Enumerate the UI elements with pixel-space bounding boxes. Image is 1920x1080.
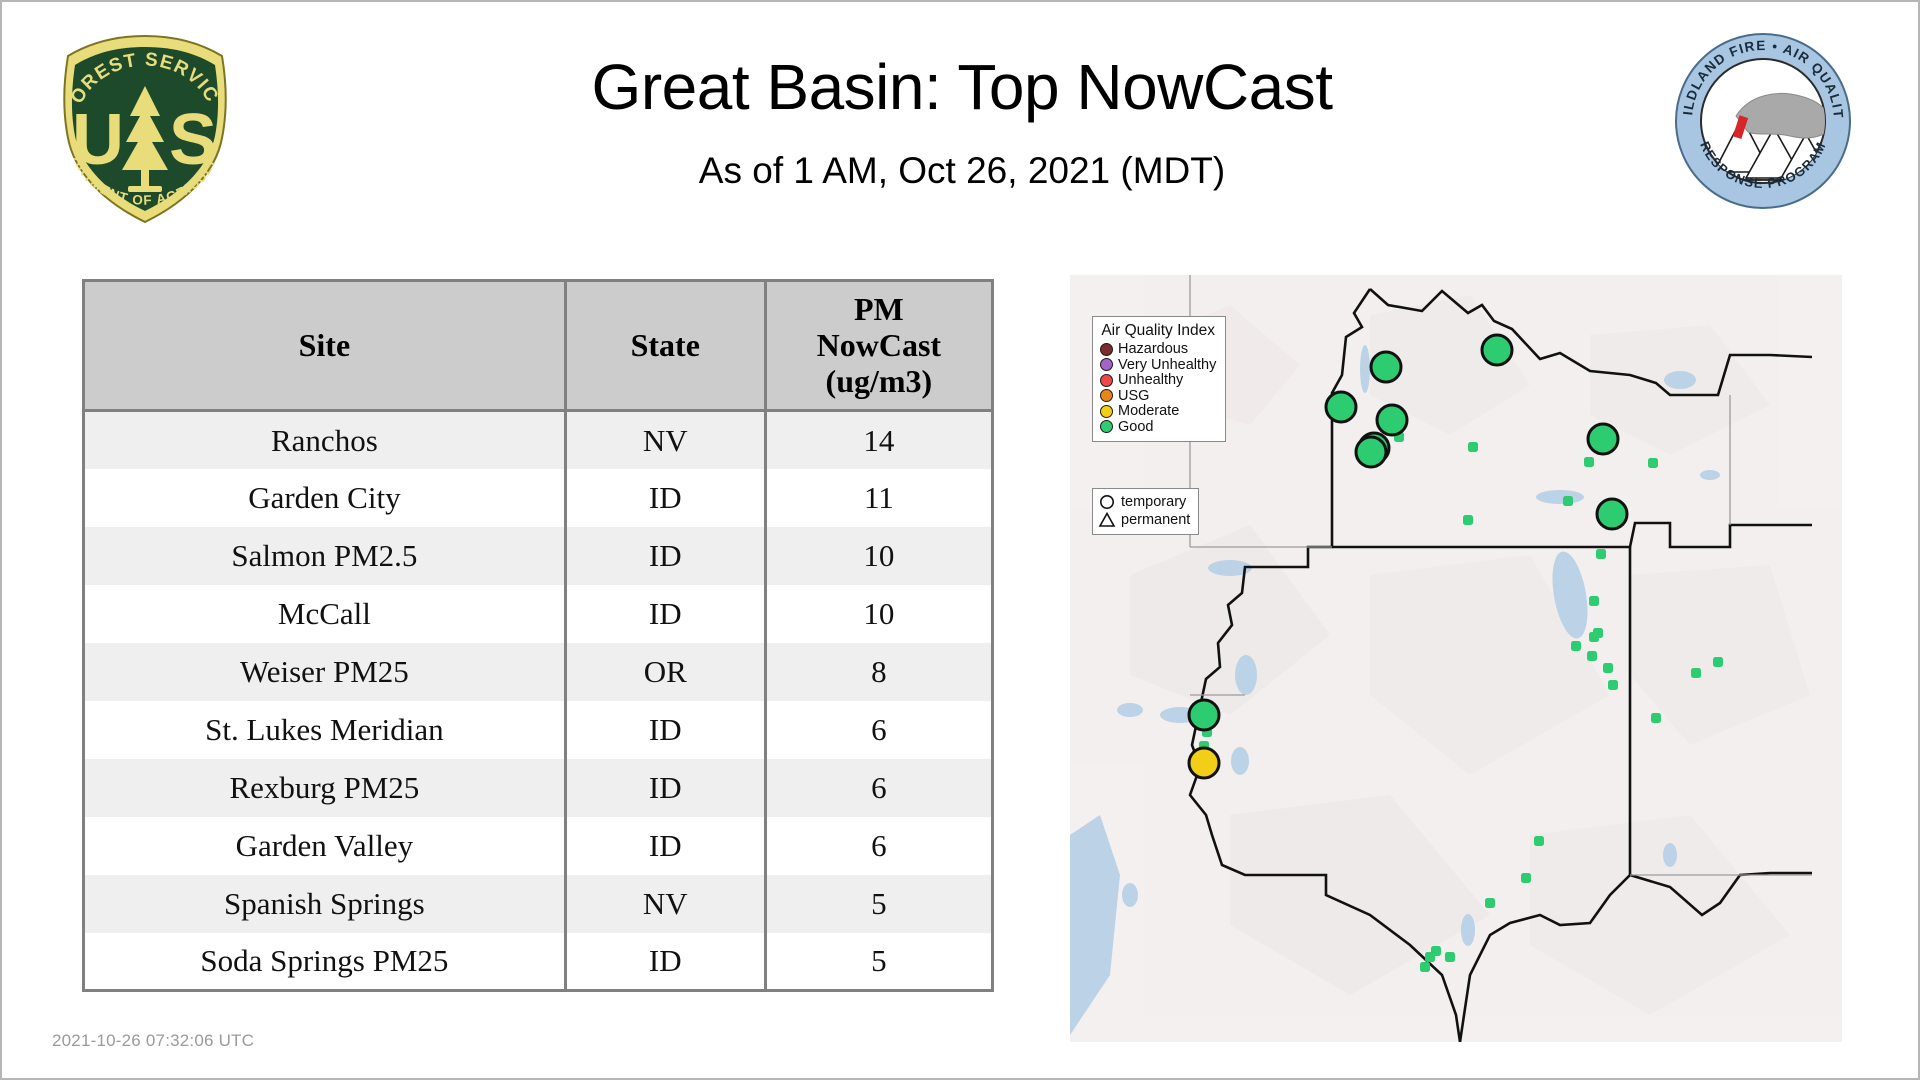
table-row: Weiser PM25OR8	[84, 643, 993, 701]
site-cell: Garden City	[84, 469, 566, 527]
value-cell: 6	[765, 701, 992, 759]
small-monitor-marker	[1589, 596, 1599, 606]
nowcast-table: Site State PM NowCast (ug/m3) RanchosNV1…	[82, 279, 994, 992]
aqi-legend-row: Unhealthy	[1100, 373, 1216, 388]
aqi-swatch-icon	[1100, 343, 1113, 356]
small-monitor-marker	[1713, 657, 1723, 667]
usfs-shield-logo: FOREST SERVICE U S DEPARTMENT OF AGRICUL…	[50, 30, 240, 230]
state-cell: NV	[565, 875, 765, 933]
ranked-monitor-marker[interactable]	[1482, 335, 1512, 365]
value-cell: 8	[765, 643, 992, 701]
small-monitor-marker	[1691, 668, 1701, 678]
table-row: McCallID10	[84, 585, 993, 643]
small-monitor-marker	[1468, 442, 1478, 452]
shape-legend-row-permanent: permanent	[1098, 511, 1190, 529]
shape-legend: temporary permanent	[1092, 488, 1199, 535]
aqi-legend-row: Moderate	[1100, 404, 1216, 419]
value-cell: 10	[765, 585, 992, 643]
table-row: Salmon PM2.5ID10	[84, 527, 993, 585]
small-monitor-marker	[1420, 962, 1430, 972]
ranked-monitor-marker[interactable]	[1371, 352, 1401, 382]
nowcast-table-container: Site State PM NowCast (ug/m3) RanchosNV1…	[82, 279, 994, 992]
site-cell: Weiser PM25	[84, 643, 566, 701]
aqi-legend-label: Good	[1118, 420, 1153, 435]
state-cell: ID	[565, 759, 765, 817]
table-row: Spanish SpringsNV5	[84, 875, 993, 933]
small-monitor-marker	[1584, 457, 1594, 467]
aqi-legend-title: Air Quality Index	[1100, 322, 1216, 340]
state-cell: NV	[565, 411, 765, 469]
table-row: Rexburg PM25ID6	[84, 759, 993, 817]
small-monitor-marker	[1563, 496, 1573, 506]
value-cell: 11	[765, 469, 992, 527]
column-header-pm-line3: (ug/m3)	[826, 363, 933, 399]
site-cell: McCall	[84, 585, 566, 643]
small-monitor-marker	[1596, 549, 1606, 559]
permanent-triangle-icon	[1098, 511, 1116, 529]
aqi-legend-label: Very Unhealthy	[1118, 358, 1216, 373]
temporary-circle-icon	[1098, 493, 1116, 511]
small-monitor-marker	[1593, 628, 1603, 638]
value-cell: 10	[765, 527, 992, 585]
state-cell: ID	[565, 585, 765, 643]
small-monitor-marker	[1648, 458, 1658, 468]
aqi-legend-row: Hazardous	[1100, 342, 1216, 357]
table-row: RanchosNV14	[84, 411, 993, 469]
page-title: Great Basin: Top NowCast	[262, 50, 1662, 124]
site-cell: Soda Springs PM25	[84, 933, 566, 991]
ranked-monitor-marker[interactable]	[1326, 392, 1356, 422]
column-header-pm-nowcast: PM NowCast (ug/m3)	[765, 281, 992, 411]
ranked-monitor-marker[interactable]	[1189, 748, 1219, 778]
site-cell: Garden Valley	[84, 817, 566, 875]
table-row: St. Lukes MeridianID6	[84, 701, 993, 759]
small-monitor-marker	[1485, 898, 1495, 908]
site-cell: Spanish Springs	[84, 875, 566, 933]
aqi-swatch-icon	[1100, 358, 1113, 371]
column-header-pm-line2: NowCast	[817, 327, 941, 363]
table-row: Garden ValleyID6	[84, 817, 993, 875]
column-header-state-label: State	[631, 327, 700, 363]
aqi-swatch-icon	[1100, 405, 1113, 418]
value-cell: 6	[765, 759, 992, 817]
ranked-monitor-marker[interactable]	[1189, 700, 1219, 730]
state-cell: ID	[565, 527, 765, 585]
aqi-legend-row: USG	[1100, 389, 1216, 404]
page-subtitle: As of 1 AM, Oct 26, 2021 (MDT)	[262, 150, 1662, 192]
wfaq-program-logo: WILDLAND FIRE • AIR QUALITY RESPONSE PRO…	[1674, 32, 1852, 210]
small-monitor-marker	[1571, 641, 1581, 651]
value-cell: 5	[765, 875, 992, 933]
small-monitor-marker	[1651, 713, 1661, 723]
small-monitor-marker	[1445, 952, 1455, 962]
shape-legend-label-permanent: permanent	[1121, 513, 1190, 528]
table-header: Site State PM NowCast (ug/m3)	[84, 281, 993, 411]
small-monitor-marker	[1463, 515, 1473, 525]
aqi-swatch-icon	[1100, 374, 1113, 387]
state-cell: ID	[565, 817, 765, 875]
aqi-legend-label: Hazardous	[1118, 342, 1188, 357]
small-monitor-marker	[1608, 680, 1618, 690]
site-cell: Ranchos	[84, 411, 566, 469]
table-body: RanchosNV14Garden CityID11Salmon PM2.5ID…	[84, 411, 993, 991]
aqi-legend-label: Unhealthy	[1118, 373, 1183, 388]
small-monitor-marker	[1534, 836, 1544, 846]
small-monitor-marker	[1521, 873, 1531, 883]
column-header-pm-line1: PM	[854, 291, 904, 327]
state-cell: ID	[565, 701, 765, 759]
site-cell: Salmon PM2.5	[84, 527, 566, 585]
state-cell: ID	[565, 469, 765, 527]
small-monitor-marker	[1587, 651, 1597, 661]
state-cell: ID	[565, 933, 765, 991]
ranked-monitor-marker[interactable]	[1597, 499, 1627, 529]
aqi-swatch-icon	[1100, 420, 1113, 433]
column-header-site-label: Site	[299, 327, 351, 363]
site-cell: Rexburg PM25	[84, 759, 566, 817]
small-monitor-marker	[1425, 952, 1435, 962]
aqi-legend-label: USG	[1118, 389, 1149, 404]
value-cell: 5	[765, 933, 992, 991]
site-cell: St. Lukes Meridian	[84, 701, 566, 759]
shape-legend-row-temporary: temporary	[1098, 493, 1190, 511]
table-row: Soda Springs PM25ID5	[84, 933, 993, 991]
aqi-legend-row: Very Unhealthy	[1100, 358, 1216, 373]
small-monitor-marker	[1603, 663, 1613, 673]
column-header-state: State	[565, 281, 765, 411]
air-quality-map[interactable]: Air Quality Index HazardousVery Unhealth…	[1070, 275, 1842, 1042]
aqi-legend-label: Moderate	[1118, 404, 1179, 419]
ranked-monitor-marker[interactable]	[1377, 405, 1407, 435]
ranked-monitor-marker[interactable]	[1356, 437, 1386, 467]
table-row: Garden CityID11	[84, 469, 993, 527]
ranked-monitor-marker[interactable]	[1588, 424, 1618, 454]
aqi-swatch-icon	[1100, 389, 1113, 402]
value-cell: 14	[765, 411, 992, 469]
state-cell: OR	[565, 643, 765, 701]
aqi-legend: Air Quality Index HazardousVery Unhealth…	[1092, 316, 1226, 442]
shape-legend-label-temporary: temporary	[1121, 495, 1186, 510]
footer-timestamp: 2021-10-26 07:32:06 UTC	[52, 1031, 254, 1051]
nowcast-report-page: FOREST SERVICE U S DEPARTMENT OF AGRICUL…	[0, 0, 1920, 1080]
value-cell: 6	[765, 817, 992, 875]
column-header-site: Site	[84, 281, 566, 411]
table-header-row: Site State PM NowCast (ug/m3)	[84, 281, 993, 411]
aqi-legend-row: Good	[1100, 420, 1216, 435]
